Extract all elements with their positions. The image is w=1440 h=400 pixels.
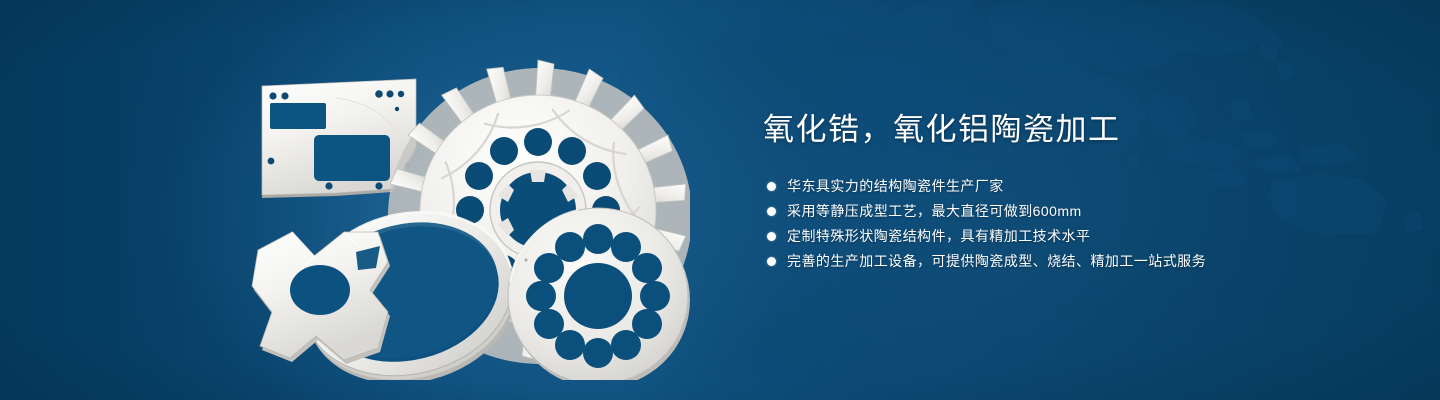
list-item-label: 华东具实力的结构陶瓷件生产厂家 — [787, 174, 1004, 198]
feature-list: 华东具实力的结构陶瓷件生产厂家 采用等静压成型工艺，最大直径可做到600mm 定… — [763, 174, 1383, 273]
list-item: 华东具实力的结构陶瓷件生产厂家 — [763, 174, 1383, 198]
list-item-label: 定制特殊形状陶瓷结构件，具有精加工技术水平 — [787, 224, 1090, 248]
hero-banner: 氧化锆，氧化铝陶瓷加工 华东具实力的结构陶瓷件生产厂家 采用等静压成型工艺，最大… — [0, 0, 1440, 400]
list-item-label: 采用等静压成型工艺，最大直径可做到600mm — [787, 199, 1082, 223]
bullet-icon — [767, 182, 776, 191]
banner-copy: 氧化锆，氧化铝陶瓷加工 华东具实力的结构陶瓷件生产厂家 采用等静压成型工艺，最大… — [763, 108, 1383, 274]
bullet-icon — [767, 257, 776, 266]
list-item: 定制特殊形状陶瓷结构件，具有精加工技术水平 — [763, 224, 1383, 248]
list-item-label: 完善的生产加工设备，可提供陶瓷成型、烧结、精加工一站式服务 — [787, 249, 1206, 273]
page-title: 氧化锆，氧化铝陶瓷加工 — [763, 108, 1383, 152]
bullet-icon — [767, 232, 776, 241]
list-item: 采用等静压成型工艺，最大直径可做到600mm — [763, 199, 1383, 223]
list-item: 完善的生产加工设备，可提供陶瓷成型、烧结、精加工一站式服务 — [763, 249, 1383, 273]
bullet-icon — [767, 207, 776, 216]
